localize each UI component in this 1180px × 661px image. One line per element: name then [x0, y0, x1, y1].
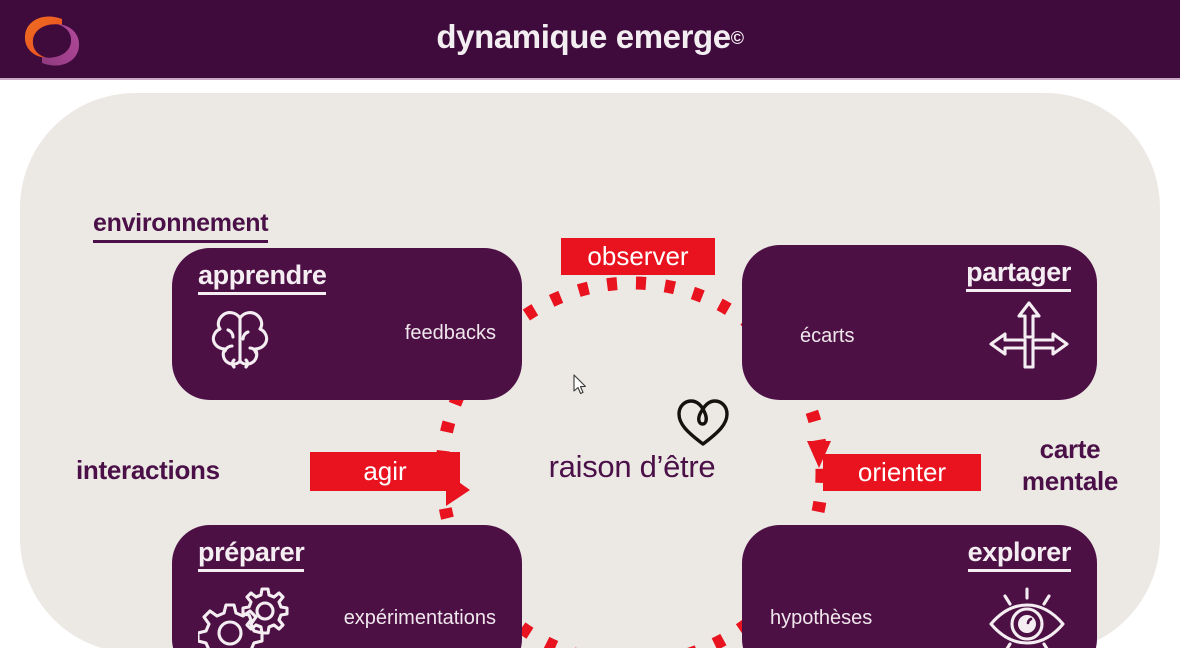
- diagram-panel: environnement interactions carte mentale…: [20, 93, 1160, 653]
- card-explorer[interactable]: explorer hypothèses: [742, 525, 1097, 661]
- card-partager[interactable]: partager écarts: [742, 245, 1097, 400]
- badge-observer-label: observer: [587, 241, 688, 272]
- card-preparer[interactable]: préparer expérimentations: [172, 525, 522, 661]
- card-explorer-subtitle: hypothèses: [770, 607, 872, 630]
- label-carte-mentale-line1: carte: [980, 433, 1160, 465]
- brain-icon: [204, 306, 276, 387]
- card-partager-subtitle: écarts: [800, 325, 854, 348]
- badge-orienter-label: orienter: [858, 457, 946, 488]
- slide-canvas: dynamique emerge© environnement interact…: [0, 0, 1180, 661]
- purpose-label: raison d’être: [482, 449, 782, 485]
- badge-agir-label: agir: [363, 456, 406, 487]
- label-carte-mentale-line2: mentale: [980, 465, 1160, 497]
- page-title: dynamique emerge©: [0, 18, 1180, 56]
- label-carte-mentale: carte mentale: [980, 433, 1160, 497]
- card-apprendre[interactable]: apprendre feedbacks: [172, 248, 522, 400]
- title-bar: dynamique emerge©: [0, 0, 1180, 80]
- card-apprendre-subtitle: feedbacks: [405, 322, 496, 345]
- badge-orienter[interactable]: orienter: [823, 454, 981, 491]
- heart-icon: [675, 398, 731, 448]
- badge-agir[interactable]: agir: [310, 452, 460, 491]
- card-preparer-title: préparer: [198, 537, 304, 572]
- label-interactions: interactions: [76, 455, 220, 486]
- card-apprendre-title: apprendre: [198, 260, 326, 295]
- card-preparer-subtitle: expérimentations: [344, 607, 496, 630]
- label-environnement: environnement: [93, 209, 268, 243]
- copyright-mark: ©: [731, 28, 744, 48]
- mouse-cursor: [573, 374, 587, 396]
- three-way-arrow-icon: [987, 297, 1071, 378]
- card-partager-title: partager: [966, 257, 1071, 292]
- page-title-text: dynamique emerge: [436, 18, 730, 55]
- panel-bottom-mask: [0, 648, 1180, 661]
- card-explorer-title: explorer: [968, 537, 1071, 572]
- badge-observer[interactable]: observer: [561, 238, 715, 275]
